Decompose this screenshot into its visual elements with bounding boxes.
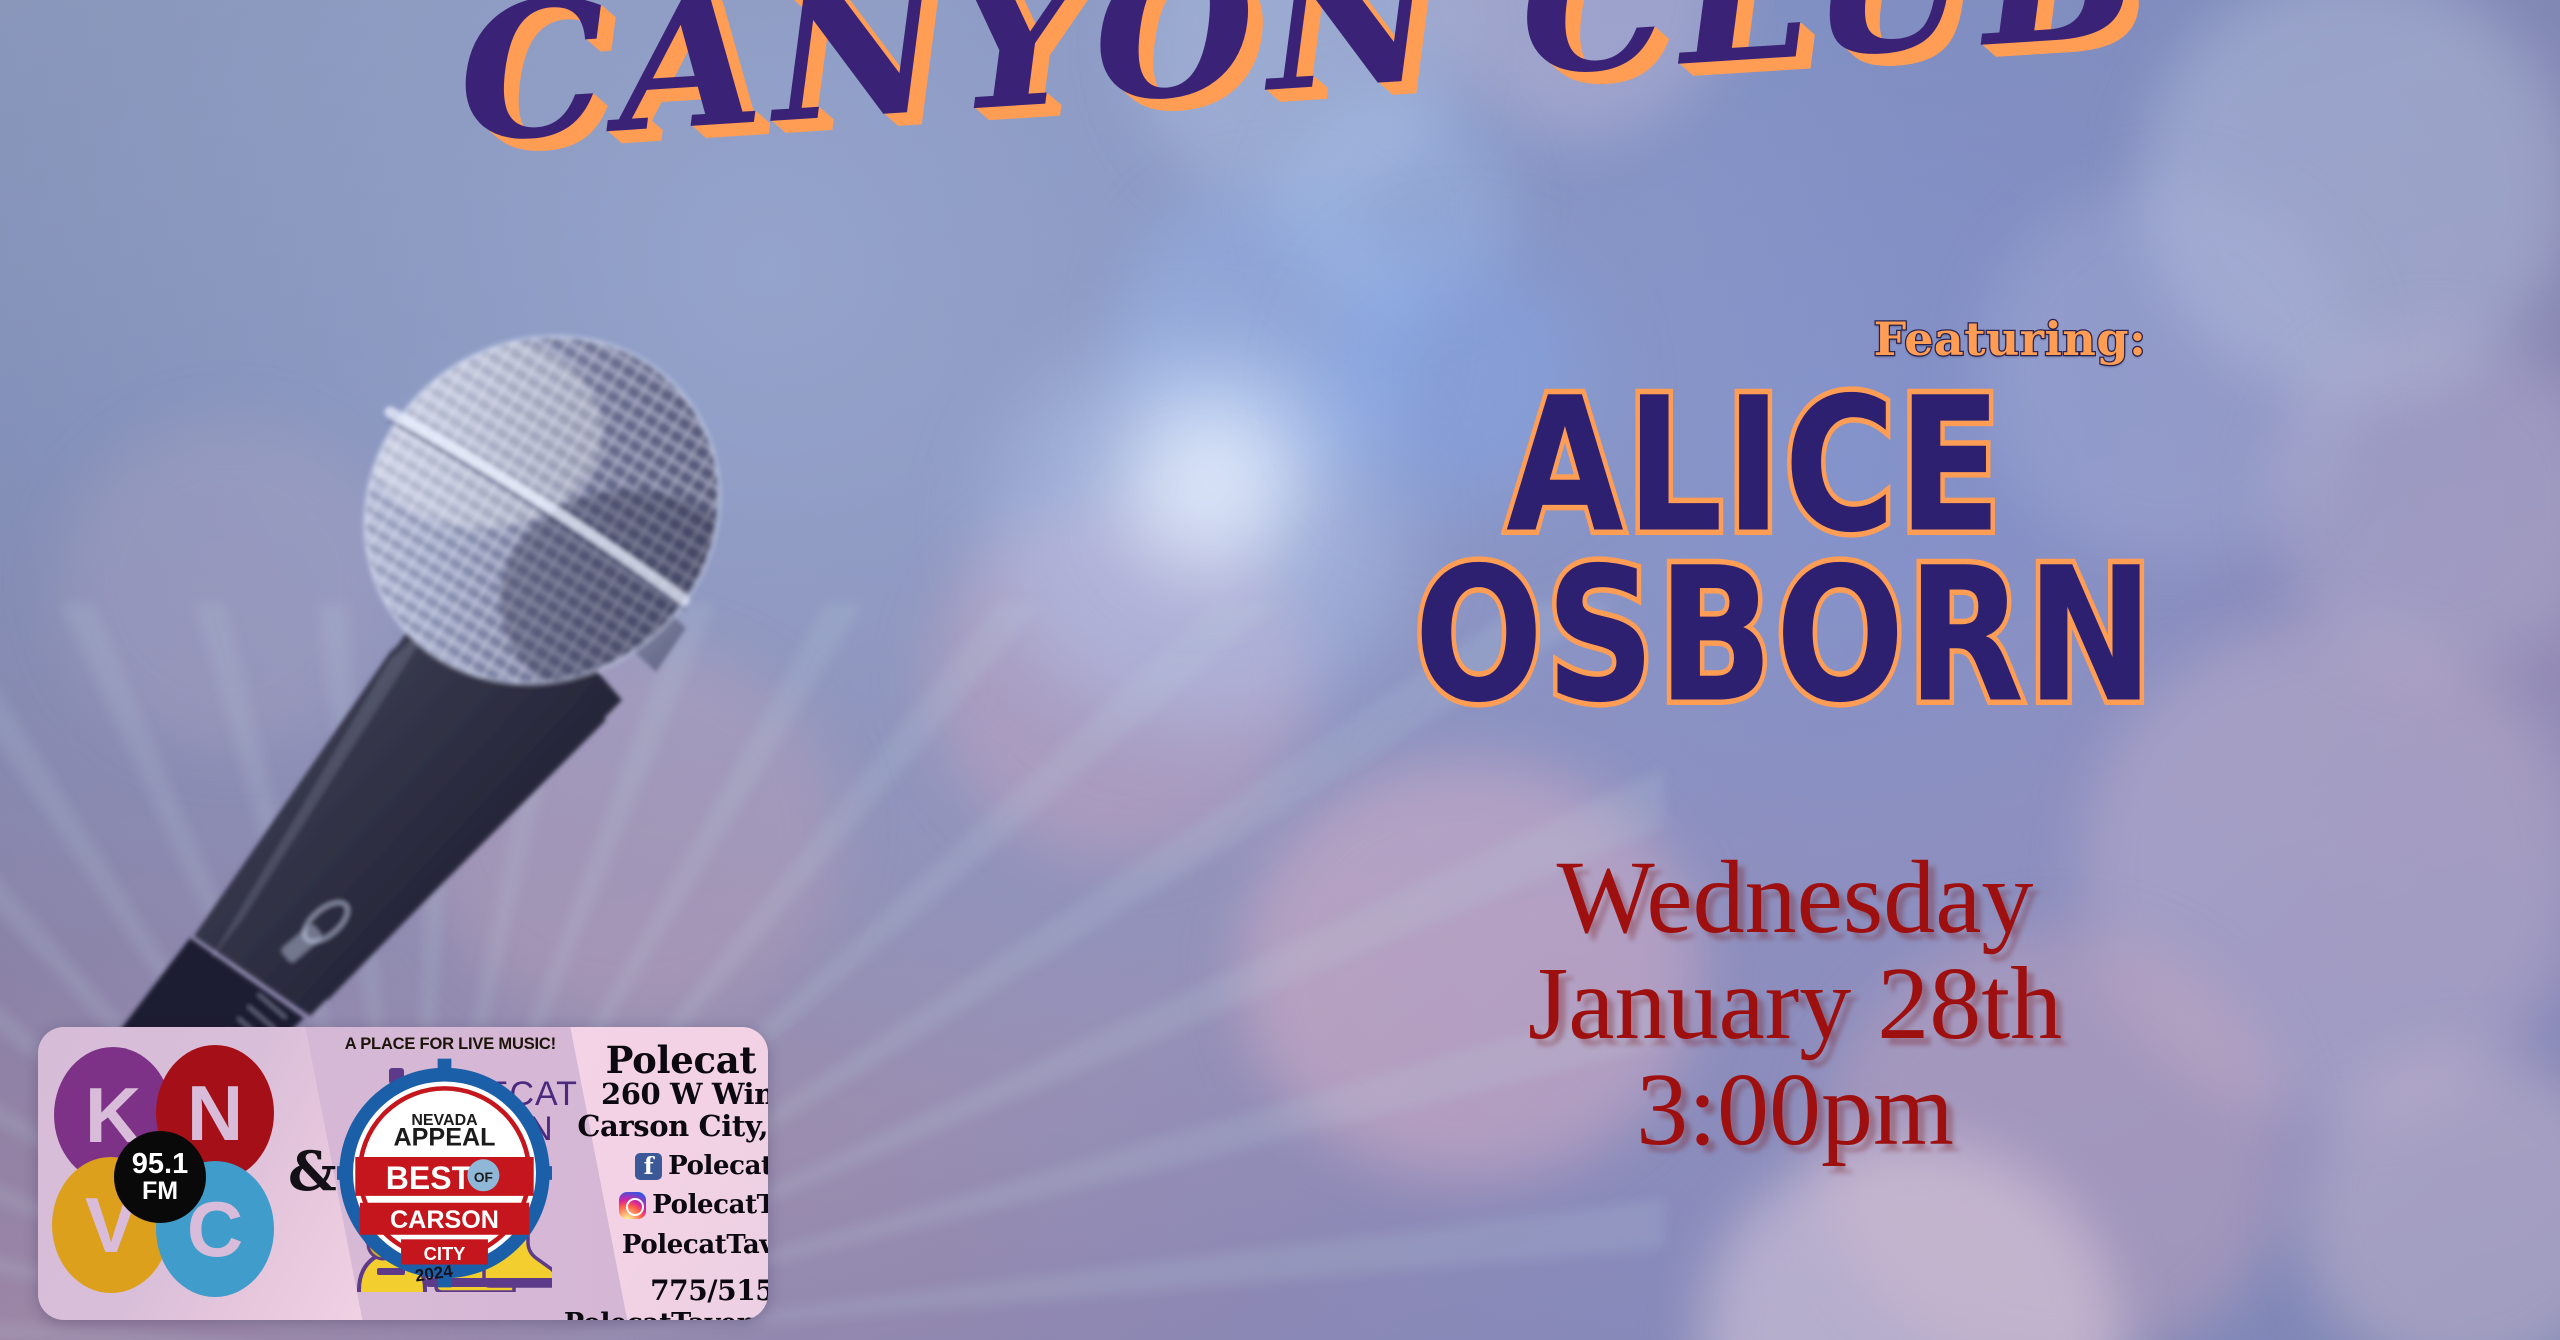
knvc-radio-logo: K N V C 95.1 FM: [38, 1027, 288, 1320]
best-of-carson-city-award-badge: NEVADA APPEAL BEST OF CARSON CITY: [337, 1054, 552, 1292]
event-date: January 28th: [1330, 951, 2260, 1057]
venue-tagline: A PLACE FOR LIVE MUSIC!: [345, 1035, 556, 1054]
instagram-handle: PolecatTavernCC: [652, 1190, 768, 1220]
svg-text:APPEAL: APPEAL: [393, 1124, 495, 1152]
radio-band-label: FM: [142, 1179, 178, 1204]
svg-text:CARSON: CARSON: [390, 1206, 499, 1234]
facebook-icon: f: [635, 1153, 662, 1180]
svg-text:BEST: BEST: [386, 1160, 472, 1196]
polecat-tavern-logo: A PLACE FOR LIVE MUSIC!: [337, 1027, 558, 1320]
sponsor-info-card: K N V C 95.1 FM & A PLACE FOR LIVE MUSIC…: [38, 1027, 768, 1320]
facebook-row[interactable]: f Polecat.Tavern: [564, 1151, 768, 1181]
instagram-row[interactable]: PolecatTavernCC: [564, 1190, 768, 1220]
facebook-handle: Polecat.Tavern: [668, 1151, 768, 1181]
event-poster: CANYON CLUB Featuring: ALICE OSBORN Wedn…: [0, 0, 2560, 1340]
svg-text:OF: OF: [474, 1170, 493, 1185]
event-datetime: Wednesday January 28th 3:00pm: [1330, 845, 2260, 1163]
radio-frequency-value: 95.1: [132, 1150, 188, 1179]
ampersand-separator: &: [288, 1027, 337, 1320]
venue-name: Polecat Tavern: [564, 1041, 768, 1079]
venue-address-line-2: Carson City, NV 89703: [564, 1111, 768, 1142]
venue-email[interactable]: PolecatTavern@gmail.com: [564, 1308, 768, 1320]
artist-last-name: OSBORN: [1310, 551, 2260, 722]
venue-contact-block: Polecat Tavern 260 W Winnie Lane Carson …: [558, 1027, 768, 1320]
venue-address-line-1: 260 W Winnie Lane: [564, 1079, 768, 1110]
venue-phone[interactable]: 775/515-4220: [564, 1274, 768, 1307]
event-time: 3:00pm: [1330, 1057, 2260, 1163]
svg-text:CITY: CITY: [423, 1243, 465, 1264]
artist-first-name: ALICE: [1360, 381, 2150, 552]
instagram-icon: [619, 1192, 646, 1219]
knvc-circle-grid: K N V C 95.1 FM: [52, 1045, 278, 1295]
event-day-of-week: Wednesday: [1330, 845, 2260, 951]
radio-frequency-badge: 95.1 FM: [114, 1131, 206, 1223]
venue-website[interactable]: PolecatTavern.com: [564, 1230, 768, 1260]
polecat-logo-artwork: POLECAT TAVERN: [337, 1054, 552, 1292]
